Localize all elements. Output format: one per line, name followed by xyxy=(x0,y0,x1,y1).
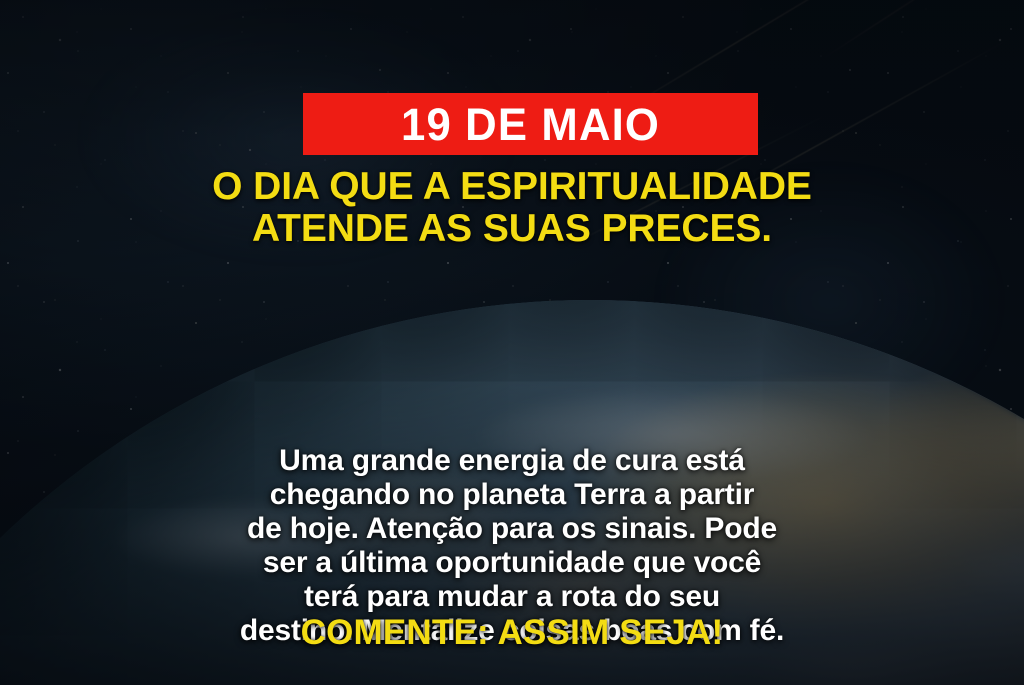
body-line-3: de hoje. Atenção para os sinais. Pode xyxy=(0,512,1024,546)
date-banner-label: 19 DE MAIO xyxy=(401,102,660,147)
call-to-action-text: COMENTE: ASSIM SEJA! xyxy=(0,613,1024,653)
headline-line-1: O DIA QUE A ESPIRITUALIDADE xyxy=(0,166,1024,208)
body-line-2: chegando no planeta Terra a partir xyxy=(0,478,1024,512)
poster-content: 19 DE MAIO O DIA QUE A ESPIRITUALIDADE A… xyxy=(0,0,1024,685)
body-line-5: terá para mudar a rota do seu xyxy=(0,580,1024,614)
headline: O DIA QUE A ESPIRITUALIDADE ATENDE AS SU… xyxy=(0,166,1024,250)
body-line-1: Uma grande energia de cura está xyxy=(0,444,1024,478)
body-line-4: ser a última oportunidade que você xyxy=(0,546,1024,580)
date-banner: 19 DE MAIO xyxy=(303,93,758,155)
poster-canvas: 19 DE MAIO O DIA QUE A ESPIRITUALIDADE A… xyxy=(0,0,1024,685)
headline-line-2: ATENDE AS SUAS PRECES. xyxy=(0,208,1024,250)
